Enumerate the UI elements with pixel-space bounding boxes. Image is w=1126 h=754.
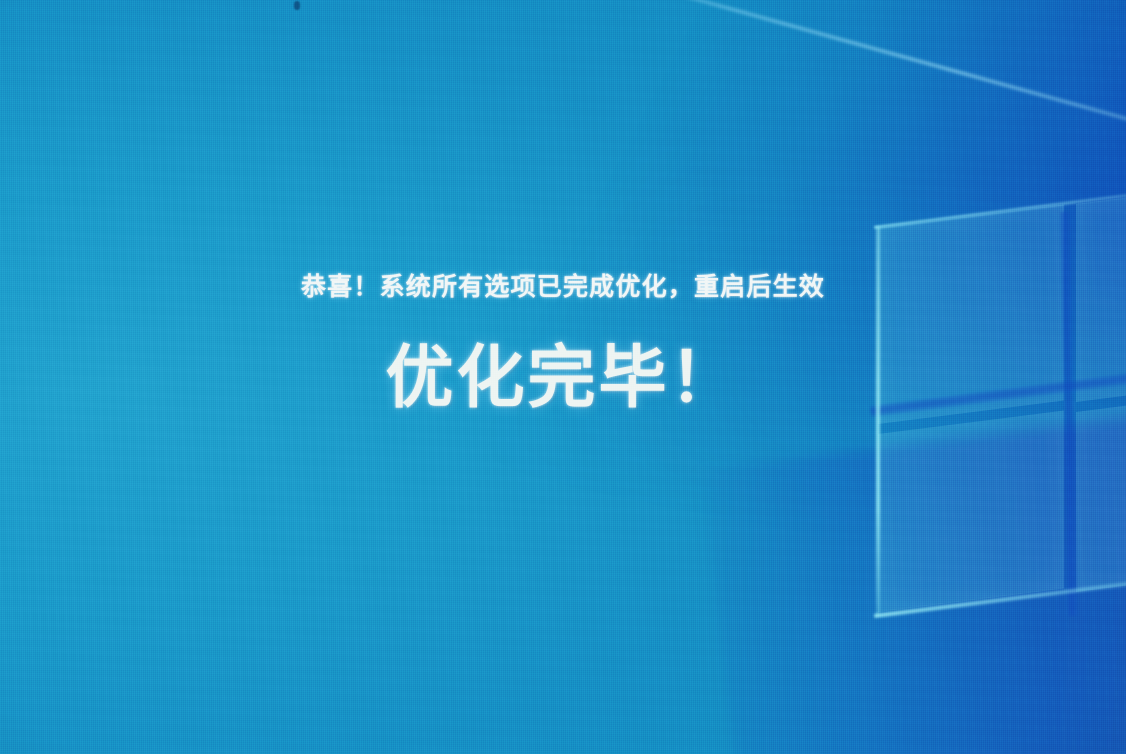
desktop-screen: 恭喜！系统所有选项已完成优化，重启后生效 优化完毕！ <box>0 0 1126 754</box>
camera-lens-vignette <box>0 0 1126 754</box>
